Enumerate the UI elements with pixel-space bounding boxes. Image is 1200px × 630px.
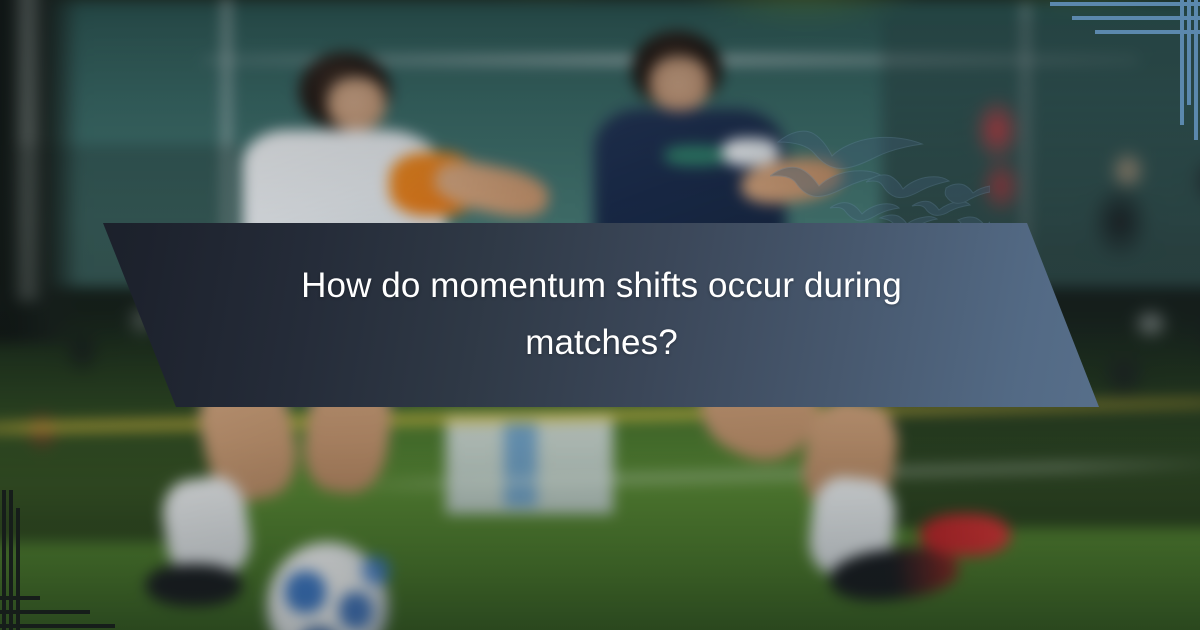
deco-line-h1	[1050, 2, 1200, 6]
page-title: How do momentum shifts occur during matc…	[257, 258, 947, 371]
title-banner-inner: How do momentum shifts occur during matc…	[176, 223, 1027, 407]
deco-line-v2	[9, 490, 13, 630]
title-banner: How do momentum shifts occur during matc…	[0, 223, 1200, 407]
deco-line-v1	[2, 490, 6, 630]
deco-line-v3	[1194, 0, 1198, 140]
deco-line-h3	[1095, 30, 1200, 34]
deco-line-h3	[0, 596, 40, 600]
deco-line-v1	[1180, 0, 1184, 125]
social-card: How do momentum shifts occur during matc…	[0, 0, 1200, 630]
corner-bracket-top-right	[1050, 0, 1200, 150]
deco-line-v3	[16, 508, 20, 630]
deco-line-h2	[0, 610, 90, 614]
deco-line-v2	[1187, 0, 1191, 105]
corner-bracket-bottom-left	[0, 480, 150, 630]
bird-flock-icon	[770, 120, 990, 230]
